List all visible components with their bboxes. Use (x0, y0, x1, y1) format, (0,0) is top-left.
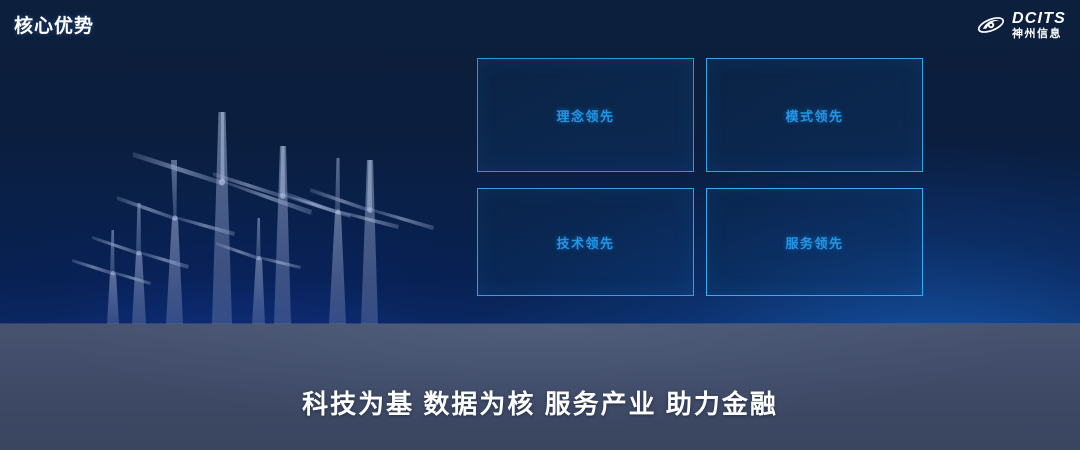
logo-name-en: DCITS (1012, 11, 1066, 27)
horizon-divider (0, 323, 1080, 324)
advantage-card-label: 服务领先 (785, 233, 843, 252)
logo-wordmark: DCITS 神州信息 (1012, 11, 1066, 40)
swirl-galaxy-icon (976, 12, 1006, 38)
advantage-card-label: 技术领先 (556, 233, 614, 252)
advantage-card-technology[interactable]: 技术领先 (477, 188, 694, 296)
advantage-card-label: 模式领先 (785, 106, 843, 125)
page-title: 核心优势 (14, 11, 94, 38)
advantage-card-label: 理念领先 (556, 106, 614, 125)
tagline: 科技为基 数据为核 服务产业 助力金融 (0, 384, 1080, 421)
advantage-card-grid: 理念领先 模式领先 技术领先 服务领先 (477, 58, 923, 296)
logo-name-cn: 神州信息 (1012, 29, 1066, 40)
advantage-card-concept[interactable]: 理念领先 (477, 58, 694, 172)
brand-logo: DCITS 神州信息 (976, 9, 1066, 41)
advantage-card-model[interactable]: 模式领先 (706, 58, 923, 172)
slide-canvas: 核心优势 DCITS 神州信息 理念领先 模式领先 技术领先 服务领先 科技为基… (0, 0, 1080, 450)
advantage-card-service[interactable]: 服务领先 (706, 188, 923, 296)
